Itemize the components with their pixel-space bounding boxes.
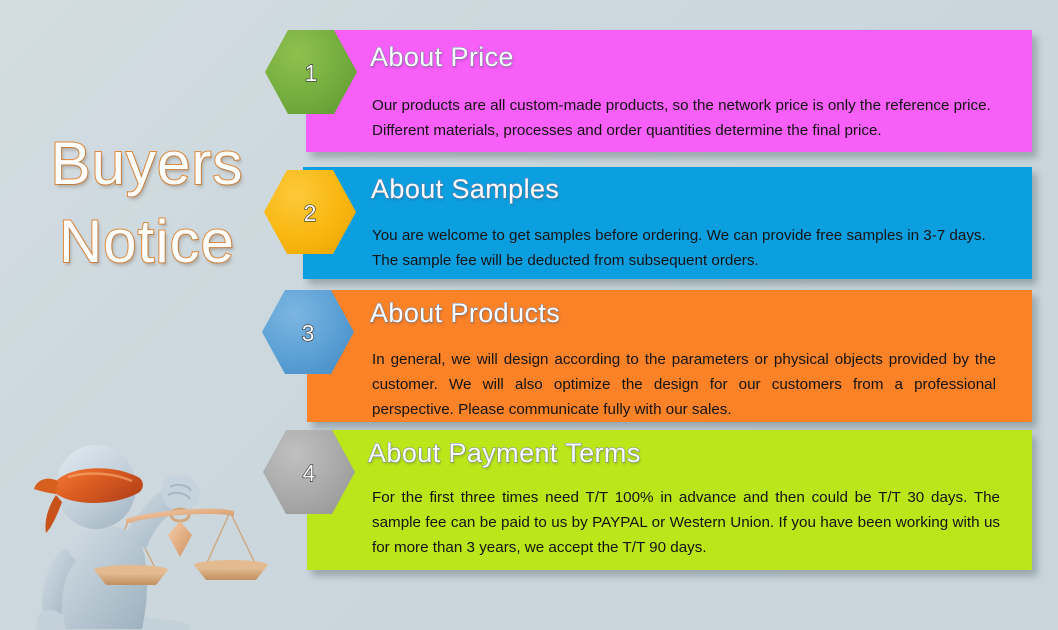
blindfolded-justice-figure-illustration xyxy=(18,415,318,630)
section-badge-number-1: 1 xyxy=(305,60,318,87)
section-body-2: You are welcome to get samples before or… xyxy=(372,223,996,273)
page-title: Buyers Notice xyxy=(22,125,272,281)
section-body-3: In general, we will design according to … xyxy=(372,347,996,422)
section-heading-4: About Payment Terms xyxy=(368,438,641,469)
section-badge-number-3: 3 xyxy=(302,320,315,347)
section-badge-number-4: 4 xyxy=(303,460,316,487)
buyers-notice-infographic: Buyers Notice xyxy=(0,0,1058,630)
section-body-4: For the first three times need T/T 100% … xyxy=(372,485,1000,560)
section-badge-number-2: 2 xyxy=(304,200,317,227)
section-heading-3: About Products xyxy=(370,298,560,329)
section-heading-2: About Samples xyxy=(371,174,559,205)
section-heading-1: About Price xyxy=(370,42,514,73)
section-body-1: Our products are all custom-made product… xyxy=(372,93,998,143)
